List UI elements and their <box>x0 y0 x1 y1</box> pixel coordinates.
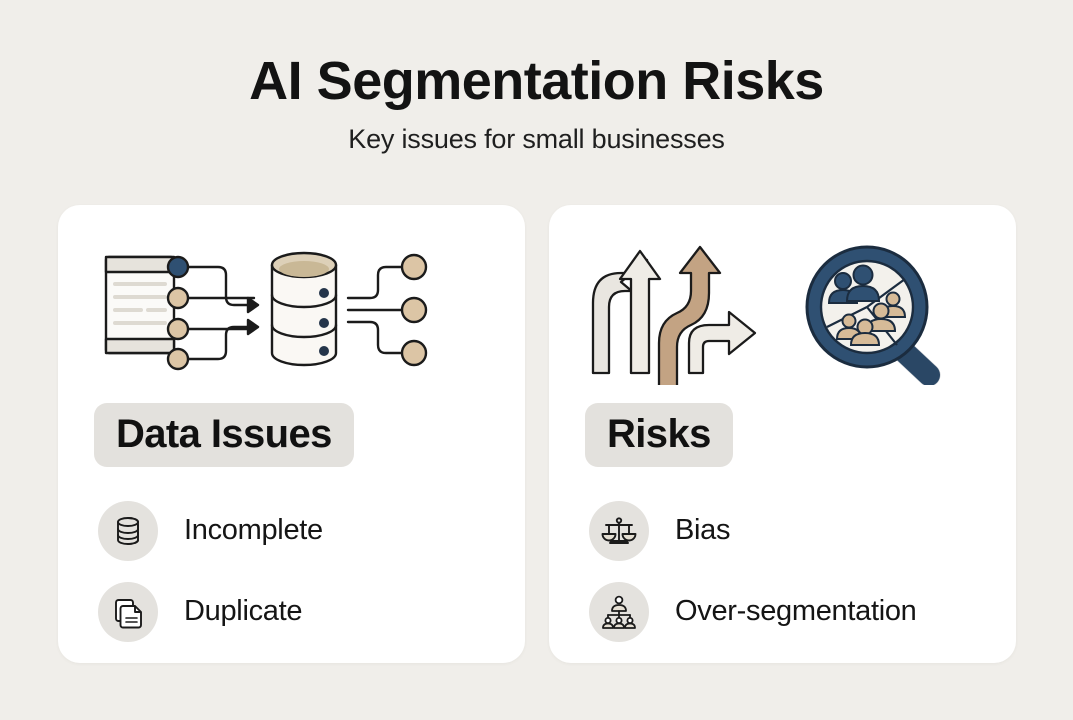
card-container: Data Issues <box>58 205 1016 663</box>
list-item[interactable]: Over-segmentation <box>589 571 1009 652</box>
list-item[interactable]: Duplicate <box>98 571 518 652</box>
page-title: AI Segmentation Risks <box>0 52 1073 110</box>
list-item-label: Bias <box>675 514 730 547</box>
risk-illustration <box>549 235 1016 385</box>
duplicate-documents-icon <box>98 582 158 642</box>
incomplete-database-icon <box>98 501 158 561</box>
list-item[interactable]: Incomplete <box>98 490 518 571</box>
card-risks: Risks <box>549 205 1016 663</box>
header: AI Segmentation Risks Key issues for sma… <box>0 52 1073 155</box>
list-item[interactable]: Bias <box>589 490 1009 571</box>
card-data-issues: Data Issues <box>58 205 525 663</box>
infographic-page: AI Segmentation Risks Key issues for sma… <box>0 0 1073 720</box>
list-item-label: Incomplete <box>184 514 323 547</box>
branching-nodes <box>348 255 426 365</box>
document-icon <box>106 257 174 353</box>
badge-label: Risks <box>607 414 711 454</box>
list-item-label: Over-segmentation <box>675 595 917 628</box>
badge-risks: Risks <box>585 403 733 467</box>
item-list-data-issues: Incomplete <box>98 490 518 652</box>
connector-wires <box>178 267 258 359</box>
hierarchy-icon <box>589 582 649 642</box>
diverging-arrows-icon <box>593 241 755 385</box>
badge-data-issues: Data Issues <box>94 403 354 467</box>
database-cylinder-icon <box>272 253 336 365</box>
data-pipeline-illustration <box>58 235 525 385</box>
balance-scale-icon <box>589 501 649 561</box>
page-subtitle: Key issues for small businesses <box>0 124 1073 155</box>
magnifier-segments-icon <box>807 247 929 375</box>
list-item-label: Duplicate <box>184 595 302 628</box>
badge-label: Data Issues <box>116 414 332 454</box>
item-list-risks: Bias <box>589 490 1009 652</box>
